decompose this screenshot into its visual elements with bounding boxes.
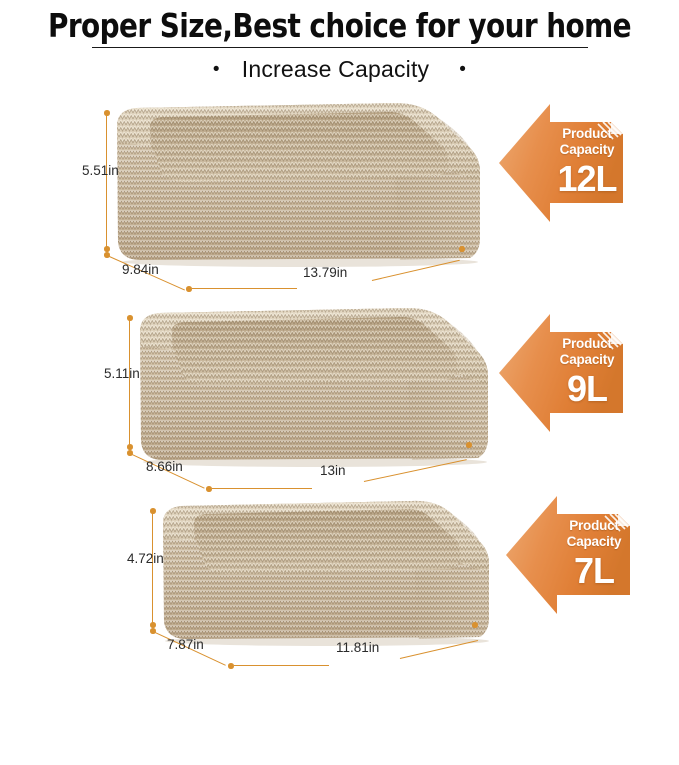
height-dimension-line — [129, 318, 130, 446]
dim-dot — [127, 444, 133, 450]
basket-small-height-label: 4.72in — [127, 551, 164, 566]
capacity-badge-12l[interactable]: Product Capacity 12L — [493, 100, 643, 250]
dim-dot — [186, 286, 192, 292]
bullet-left-icon: • — [213, 59, 220, 81]
subtitle: •Increase Capacity• — [0, 56, 679, 83]
bullet-right-icon: • — [459, 59, 466, 81]
dim-dot — [472, 622, 478, 628]
capacity-badge-7l[interactable]: Product Capacity 7L — [500, 492, 650, 642]
infographic-canvas: Proper Size,Best choice for your home •I… — [0, 0, 679, 679]
badge-arrow-shape — [493, 100, 643, 250]
dim-dot — [466, 442, 472, 448]
basket-large-height-label: 5.51in — [82, 163, 119, 178]
dim-dot — [459, 246, 465, 252]
width-dimension-line — [234, 665, 329, 666]
basket-small-width-label: 11.81in — [336, 640, 379, 655]
page-title: Proper Size,Best choice for your home — [20, 6, 658, 45]
dim-dot — [104, 246, 110, 252]
basket-large-width-label: 13.79in — [303, 265, 347, 280]
badge-arrow-shape — [493, 310, 643, 460]
basket-medium-height-label: 5.11in — [104, 366, 140, 381]
title-divider — [92, 47, 588, 48]
basket-small-depth-label: 7.87in — [167, 637, 204, 652]
height-dimension-line — [152, 511, 153, 624]
width-dimension-line — [192, 288, 297, 289]
basket-medium-width-label: 13in — [320, 463, 346, 478]
badge-arrow-shape — [500, 492, 650, 642]
height-dimension-line — [106, 113, 107, 248]
basket-large-depth-label: 9.84in — [122, 262, 159, 277]
basket-medium-depth-label: 8.66in — [146, 459, 183, 474]
subtitle-text: Increase Capacity — [242, 56, 430, 82]
dim-dot — [150, 622, 156, 628]
capacity-badge-9l[interactable]: Product Capacity 9L — [493, 310, 643, 460]
dim-dot — [228, 663, 234, 669]
